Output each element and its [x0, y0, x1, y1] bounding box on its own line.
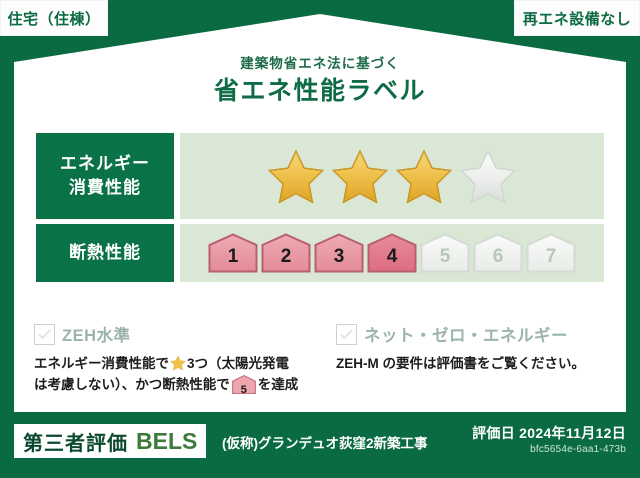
energy-performance-label-line2: 消費性能 [69, 176, 141, 200]
label-subtitle: 建築物省エネ法に基づく [0, 56, 640, 72]
insulation-performance-label: 断熱性能 [69, 241, 141, 265]
zeh-standard-block: ZEH水準 エネルギー消費性能で 3つ（太陽光発電 は考慮しない）、かつ断熱性能… [34, 322, 316, 395]
evaluation-id: bfc5654e-6aa1-473b [530, 444, 626, 455]
net-zero-energy-header: ネット・ゼロ・エネルギー [336, 322, 608, 346]
zeh-text-part4: を達成 [258, 377, 299, 392]
energy-performance-panel [180, 133, 604, 219]
insulation-level-badges: 1234567 [208, 233, 576, 273]
building-type-tag: 住宅（住棟） [0, 0, 108, 36]
insulation-badge-value: 1 [228, 246, 239, 273]
insulation-badge-active: 3 [314, 233, 364, 273]
inline-insulation-badge-value: 5 [232, 375, 256, 401]
checkbox-unchecked-icon [336, 324, 357, 345]
bels-logo-text: BELS [136, 428, 197, 455]
insulation-performance-label-box: 断熱性能 [36, 224, 174, 282]
insulation-badge-value: 6 [493, 246, 504, 273]
insulation-badge-active: 1 [208, 233, 258, 273]
inline-insulation-badge: 5 [232, 375, 256, 394]
zeh-text-part3: は考慮しない）、かつ断熱性能で [34, 377, 230, 392]
net-zero-energy-title: ネット・ゼロ・エネルギー [364, 322, 568, 346]
zeh-standard-title: ZEH水準 [62, 322, 131, 346]
net-zero-energy-block: ネット・ゼロ・エネルギー ZEH-M の要件は評価書をご覧ください。 [336, 322, 608, 395]
renewable-equipment-tag-label: 再エネ設備なし [523, 8, 632, 29]
insulation-badge-inactive: 6 [473, 233, 523, 273]
label-footer: 第三者評価 BELS (仮称)グランデュオ荻窪2新築工事 評価日 2024年11… [0, 412, 640, 478]
insulation-badge-value: 2 [281, 246, 292, 273]
zeh-section: ZEH水準 エネルギー消費性能で 3つ（太陽光発電 は考慮しない）、かつ断熱性能… [34, 322, 608, 395]
page-title: 省エネ性能ラベル [0, 75, 640, 107]
label-title-block: 建築物省エネ法に基づく 省エネ性能ラベル [0, 56, 640, 107]
star-empty-icon [459, 148, 517, 204]
insulation-badge-active: 2 [261, 233, 311, 273]
insulation-badge-inactive: 7 [526, 233, 576, 273]
insulation-badge-value: 4 [387, 246, 398, 273]
star-rating [267, 148, 517, 204]
insulation-performance-row: 断熱性能 1234567 [36, 224, 604, 282]
bels-certification-badge: 第三者評価 BELS [14, 424, 206, 458]
star-filled-icon [331, 148, 389, 204]
zeh-text-part1: エネルギー消費性能で [34, 356, 169, 371]
building-name: (仮称)グランデュオ荻窪2新築工事 [222, 432, 428, 452]
net-zero-energy-description: ZEH-M の要件は評価書をご覧ください。 [336, 353, 608, 374]
star-filled-icon [395, 148, 453, 204]
energy-performance-row: エネルギー 消費性能 [36, 133, 604, 219]
bels-third-party-label: 第三者評価 [23, 427, 128, 456]
energy-performance-label-box: エネルギー 消費性能 [36, 133, 174, 219]
zeh-text-part2: 3つ（太陽光発電 [187, 356, 289, 371]
rating-rows: エネルギー 消費性能 断熱性能 1234567 [36, 133, 604, 287]
energy-performance-label-line1: エネルギー [60, 152, 150, 176]
insulation-performance-panel: 1234567 [180, 224, 604, 282]
inline-star-icon [170, 355, 186, 371]
insulation-badge-value: 3 [334, 246, 345, 273]
insulation-badge-value: 7 [546, 246, 557, 273]
insulation-badge-inactive: 5 [420, 233, 470, 273]
star-filled-icon [267, 148, 325, 204]
energy-performance-label: 住宅（住棟） 再エネ設備なし 建築物省エネ法に基づく 省エネ性能ラベル エネルギ… [0, 0, 640, 478]
zeh-standard-header: ZEH水準 [34, 322, 316, 346]
building-type-tag-label: 住宅（住棟） [7, 8, 100, 29]
renewable-equipment-tag: 再エネ設備なし [514, 0, 640, 36]
insulation-badge-active: 4 [367, 233, 417, 273]
zeh-standard-description: エネルギー消費性能で 3つ（太陽光発電 は考慮しない）、かつ断熱性能で 5 を達… [34, 353, 316, 395]
insulation-badge-value: 5 [440, 246, 451, 273]
checkbox-unchecked-icon [34, 324, 55, 345]
evaluation-date: 評価日 2024年11月12日 [472, 423, 626, 443]
